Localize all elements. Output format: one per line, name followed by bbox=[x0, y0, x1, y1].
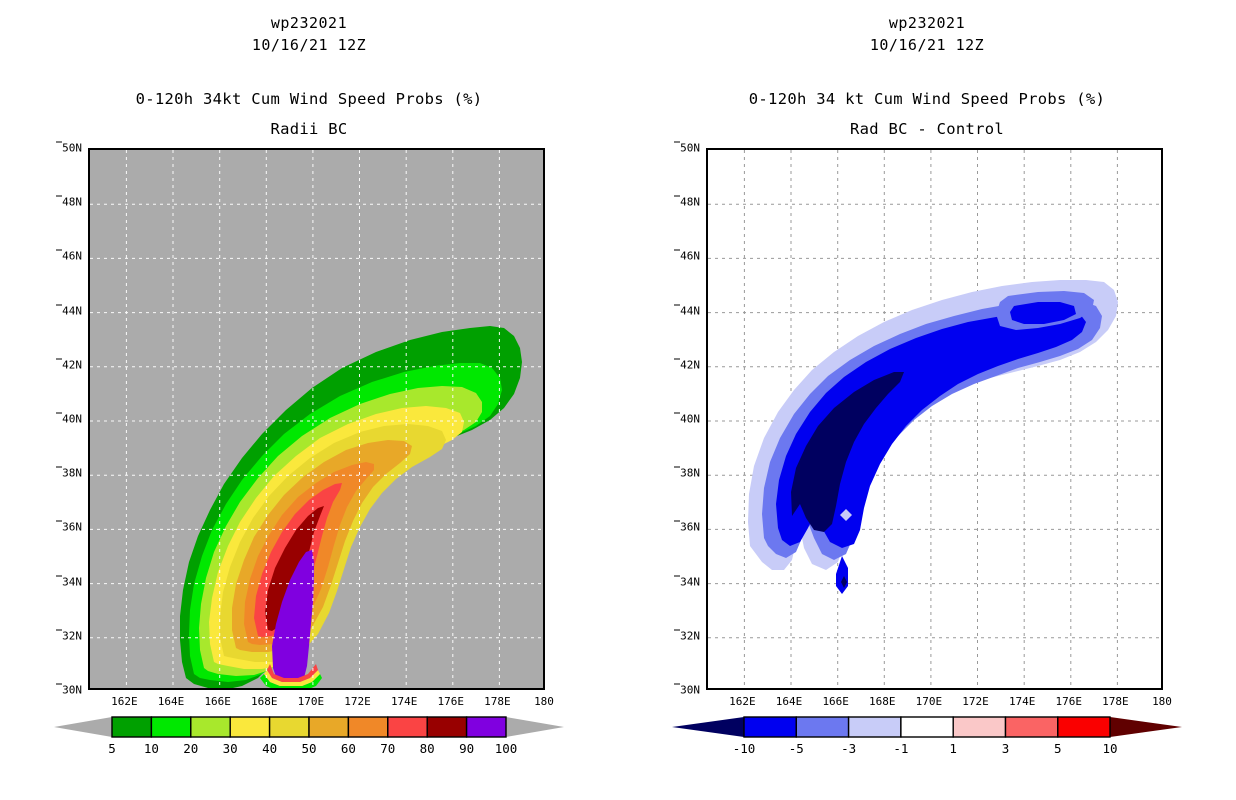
left-title-subtitle: Radii BC bbox=[0, 120, 618, 138]
left-plot-area bbox=[88, 148, 545, 690]
colorbar-swatch-30-40 bbox=[230, 717, 269, 737]
left-xtick-label: 164E bbox=[158, 695, 185, 708]
left-ytick-label: 48N bbox=[62, 196, 82, 209]
left-xtick-label: 176E bbox=[438, 695, 465, 708]
colorbar-tick-label: 40 bbox=[262, 741, 277, 756]
right-xtick-label: 178E bbox=[1102, 695, 1129, 708]
right-xtick-label: 164E bbox=[776, 695, 803, 708]
tick-mark bbox=[674, 250, 680, 251]
right-plot-frame bbox=[706, 148, 1163, 690]
left-ytick-label: 32N bbox=[62, 629, 82, 642]
difference-colorbar-swatches bbox=[672, 714, 1182, 740]
colorbar-tick-label: 20 bbox=[183, 741, 198, 756]
left-title-main: 0-120h 34kt Cum Wind Speed Probs (%) bbox=[0, 90, 618, 108]
left-ytick-label: 42N bbox=[62, 358, 82, 371]
colorbar-tick-label: 100 bbox=[495, 741, 518, 756]
tick-mark bbox=[56, 196, 62, 197]
panel-radii-bc: wp232021 10/16/21 12Z 0-120h 34kt Cum Wi… bbox=[0, 0, 618, 800]
tick-mark bbox=[674, 304, 680, 305]
right-xtick-label: 172E bbox=[962, 695, 989, 708]
left-xtick-label: 174E bbox=[391, 695, 418, 708]
tick-mark bbox=[56, 629, 62, 630]
tick-mark bbox=[674, 413, 680, 414]
left-title-storm-id: wp232021 bbox=[0, 14, 618, 32]
diff-colorbar-swatch-3-5 bbox=[1006, 717, 1058, 737]
left-x-axis: 162E 164E 166E 168E 170E 172E 174E 176E … bbox=[88, 695, 545, 713]
right-title-subtitle: Rad BC - Control bbox=[618, 120, 1236, 138]
right-title-main: 0-120h 34 kt Cum Wind Speed Probs (%) bbox=[618, 90, 1236, 108]
diff-hole-upper-left bbox=[815, 327, 829, 337]
right-ytick-label: 32N bbox=[680, 629, 700, 642]
diff-colorbar-swatch-m5-m3 bbox=[796, 717, 848, 737]
diff-colorbar-tick-label: -3 bbox=[841, 741, 856, 756]
diff-colorbar-tick-label: -1 bbox=[893, 741, 908, 756]
tick-mark bbox=[674, 629, 680, 630]
figure-container: wp232021 10/16/21 12Z 0-120h 34kt Cum Wi… bbox=[0, 0, 1236, 800]
diff-colorbar-swatch-1-3 bbox=[953, 717, 1005, 737]
right-ytick-label: 30N bbox=[680, 684, 700, 697]
tick-mark bbox=[674, 358, 680, 359]
colorbar-tick-label: 70 bbox=[380, 741, 395, 756]
left-ytick-label: 50N bbox=[62, 142, 82, 155]
colorbar-tick-label: 10 bbox=[144, 741, 159, 756]
left-plot-frame bbox=[88, 148, 545, 690]
left-xtick-label: 172E bbox=[344, 695, 371, 708]
colorbar-tick-label: 5 bbox=[108, 741, 116, 756]
tick-mark bbox=[674, 196, 680, 197]
right-xtick-label: 176E bbox=[1056, 695, 1083, 708]
difference-colorbar-labels: -10 -5 -3 -1 1 3 5 10 bbox=[672, 741, 1182, 761]
tick-mark bbox=[56, 575, 62, 576]
left-ytick-label: 30N bbox=[62, 684, 82, 697]
tick-mark bbox=[674, 467, 680, 468]
left-ytick-label: 36N bbox=[62, 521, 82, 534]
right-ytick-label: 42N bbox=[680, 358, 700, 371]
right-contour-svg bbox=[708, 150, 1163, 690]
right-xtick-label: 166E bbox=[822, 695, 849, 708]
probability-colorbar-labels: 5 10 20 30 40 50 60 70 80 90 100 bbox=[54, 741, 564, 761]
left-xtick-label: 180 bbox=[534, 695, 554, 708]
diff-colorbar-swatch-m10-m5 bbox=[744, 717, 796, 737]
left-xtick-label: 170E bbox=[298, 695, 325, 708]
diff-colorbar-tick-label: 3 bbox=[1002, 741, 1010, 756]
tick-mark bbox=[56, 358, 62, 359]
tick-mark bbox=[56, 250, 62, 251]
right-ytick-label: 34N bbox=[680, 575, 700, 588]
right-plot-area bbox=[706, 148, 1163, 690]
right-xtick-label: 162E bbox=[729, 695, 756, 708]
right-ytick-label: 50N bbox=[680, 142, 700, 155]
probability-colorbar: 5 10 20 30 40 50 60 70 80 90 100 bbox=[0, 714, 618, 774]
tick-mark bbox=[674, 142, 680, 143]
left-ytick-label: 34N bbox=[62, 575, 82, 588]
colorbar-swatch-70-80 bbox=[388, 717, 427, 737]
right-x-axis: 162E 164E 166E 168E 170E 172E 174E 176E … bbox=[706, 695, 1163, 713]
tick-mark bbox=[56, 521, 62, 522]
diff-colorbar-tick-label: 1 bbox=[949, 741, 957, 756]
colorbar-tick-label: 50 bbox=[301, 741, 316, 756]
right-xtick-label: 180 bbox=[1152, 695, 1172, 708]
left-ytick-label: 38N bbox=[62, 467, 82, 480]
colorbar-swatch-40-50 bbox=[270, 717, 309, 737]
right-ytick-label: 44N bbox=[680, 304, 700, 317]
right-ytick-label: 40N bbox=[680, 413, 700, 426]
left-xtick-label: 162E bbox=[111, 695, 138, 708]
tick-mark bbox=[674, 521, 680, 522]
difference-colorbar: -10 -5 -3 -1 1 3 5 10 bbox=[618, 714, 1236, 774]
panel-rad-bc-minus-control: wp232021 10/16/21 12Z 0-120h 34 kt Cum W… bbox=[618, 0, 1236, 800]
tick-mark bbox=[56, 304, 62, 305]
colorbar-tick-label: 90 bbox=[459, 741, 474, 756]
left-title-datetime: 10/16/21 12Z bbox=[0, 36, 618, 54]
colorbar-left-cap bbox=[54, 717, 112, 737]
right-xtick-label: 174E bbox=[1009, 695, 1036, 708]
tick-mark bbox=[674, 684, 680, 685]
left-y-axis: 30N 32N 34N 36N 38N 40N 42N 44N 46N 48N … bbox=[38, 148, 82, 690]
diff-colorbar-left-cap bbox=[672, 717, 744, 737]
colorbar-swatch-60-70 bbox=[348, 717, 387, 737]
left-ytick-label: 44N bbox=[62, 304, 82, 317]
diff-colorbar-tick-label: -5 bbox=[789, 741, 804, 756]
tick-mark bbox=[56, 467, 62, 468]
diff-colorbar-swatch-5-10 bbox=[1058, 717, 1110, 737]
colorbar-swatch-90-100 bbox=[467, 717, 506, 737]
left-ytick-label: 46N bbox=[62, 250, 82, 263]
tick-mark bbox=[674, 575, 680, 576]
colorbar-right-cap bbox=[506, 717, 564, 737]
right-ytick-label: 46N bbox=[680, 250, 700, 263]
left-xtick-label: 178E bbox=[484, 695, 511, 708]
colorbar-swatch-10-20 bbox=[151, 717, 190, 737]
diff-colorbar-tick-label: 10 bbox=[1102, 741, 1117, 756]
diff-colorbar-right-cap bbox=[1110, 717, 1182, 737]
tick-mark bbox=[56, 413, 62, 414]
right-ytick-label: 38N bbox=[680, 467, 700, 480]
right-xtick-label: 168E bbox=[869, 695, 896, 708]
left-xtick-label: 168E bbox=[251, 695, 278, 708]
diff-colorbar-swatch-m3-m1 bbox=[849, 717, 901, 737]
tick-mark bbox=[56, 684, 62, 685]
left-xtick-label: 166E bbox=[204, 695, 231, 708]
probability-colorbar-swatches bbox=[54, 714, 564, 740]
colorbar-swatch-50-60 bbox=[309, 717, 348, 737]
diff-colorbar-tick-label: -10 bbox=[733, 741, 756, 756]
colorbar-tick-label: 60 bbox=[341, 741, 356, 756]
right-title-datetime: 10/16/21 12Z bbox=[618, 36, 1236, 54]
right-xtick-label: 170E bbox=[916, 695, 943, 708]
colorbar-swatch-5-10 bbox=[112, 717, 151, 737]
diff-colorbar-tick-label: 5 bbox=[1054, 741, 1062, 756]
tick-mark bbox=[56, 142, 62, 143]
right-ytick-label: 36N bbox=[680, 521, 700, 534]
colorbar-tick-label: 80 bbox=[420, 741, 435, 756]
left-ytick-label: 40N bbox=[62, 413, 82, 426]
colorbar-swatch-20-30 bbox=[191, 717, 230, 737]
colorbar-swatch-80-90 bbox=[427, 717, 466, 737]
right-y-axis: 30N 32N 34N 36N 38N 40N 42N 44N 46N 48N … bbox=[656, 148, 700, 690]
left-contour-svg bbox=[90, 150, 545, 690]
right-title-storm-id: wp232021 bbox=[618, 14, 1236, 32]
diff-colorbar-swatch-m1-1 bbox=[901, 717, 953, 737]
right-ytick-label: 48N bbox=[680, 196, 700, 209]
colorbar-tick-label: 30 bbox=[223, 741, 238, 756]
